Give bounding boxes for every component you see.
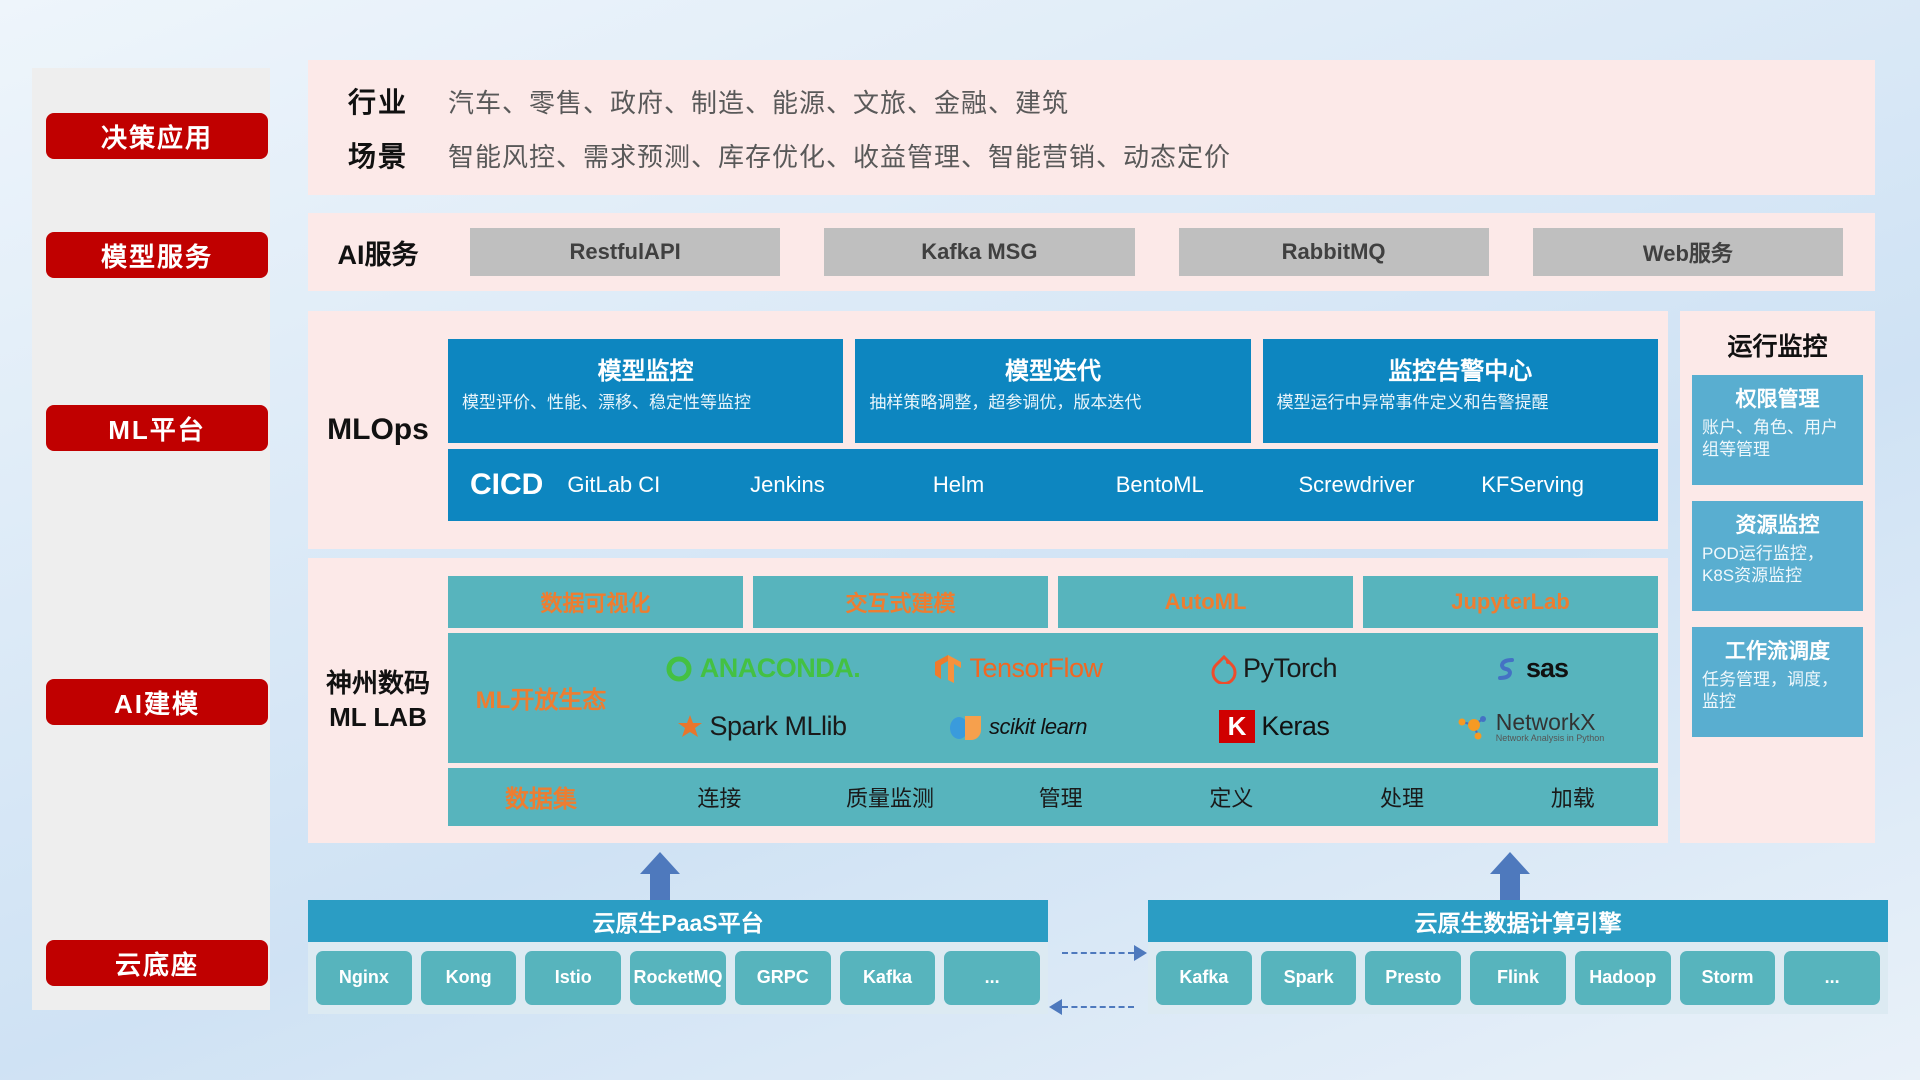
spark-star-icon (677, 714, 703, 740)
data-engine-title: 云原生数据计算引擎 (1148, 900, 1888, 942)
tool-automl[interactable]: AutoML (1058, 576, 1353, 628)
dataset-item-load[interactable]: 加载 (1487, 781, 1658, 813)
spark-mllib-wordmark: Spark MLlib (709, 711, 846, 742)
industry-value: 汽车、零售、政府、制造、能源、文旅、金融、建筑 (448, 83, 1069, 120)
layer-label: ML平台 (108, 410, 206, 447)
tool-jupyterlab[interactable]: JupyterLab (1363, 576, 1658, 628)
ai-service-chip-restfulapi[interactable]: RestfulAPI (470, 228, 780, 276)
layer-label: AI建模 (114, 684, 200, 721)
paas-chip-list: Nginx Kong Istio RocketMQ GRPC Kafka ... (308, 942, 1048, 1014)
networkx-logo: NetworkX Network Analysis in Python (1456, 711, 1605, 743)
mlops-card-list: 模型监控 模型评价、性能、漂移、稳定性等监控 模型迭代 抽样策略调整，超参调优，… (448, 339, 1658, 443)
tool-data-visualization[interactable]: 数据可视化 (448, 576, 743, 628)
cloud-native-data-engine-box: 云原生数据计算引擎 Kafka Spark Presto Flink Hadoo… (1148, 900, 1888, 1014)
engine-chip-presto[interactable]: Presto (1365, 951, 1461, 1005)
sas-wordmark: sas (1526, 653, 1568, 684)
pytorch-flame-icon (1211, 654, 1237, 684)
card-desc: POD运行监控，K8S资源监控 (1702, 543, 1853, 587)
engine-chip-storm[interactable]: Storm (1680, 951, 1776, 1005)
paas-chip-istio[interactable]: Istio (525, 951, 621, 1005)
card-title: 资源监控 (1702, 509, 1853, 539)
monitor-card-workflow[interactable]: 工作流调度 任务管理，调度，监控 (1692, 627, 1863, 737)
card-title: 权限管理 (1702, 383, 1853, 413)
mlops-band: MLOps 模型监控 模型评价、性能、漂移、稳定性等监控 模型迭代 抽样策略调整… (308, 311, 1668, 549)
scikit-learn-logo: scikit learn (949, 712, 1087, 742)
ecosystem-title: ML开放生态 (448, 680, 634, 715)
paas-title: 云原生PaaS平台 (308, 900, 1048, 942)
arrow-up-engine-head-icon (1490, 852, 1530, 874)
mlops-card-model-iteration[interactable]: 模型迭代 抽样策略调整，超参调优，版本迭代 (855, 339, 1250, 443)
layer-pill-ai-modeling[interactable]: AI建模 (46, 679, 268, 725)
dashed-arrow-left-icon (1049, 999, 1062, 1015)
cloud-native-paas-box: 云原生PaaS平台 Nginx Kong Istio RocketMQ GRPC… (308, 900, 1048, 1014)
ai-services-band: AI服务 RestfulAPI Kafka MSG RabbitMQ Web服务 (308, 213, 1875, 291)
engine-chip-kafka[interactable]: Kafka (1156, 951, 1252, 1005)
anaconda-wordmark: ANACONDA. (700, 653, 861, 684)
anaconda-ring-icon (664, 654, 694, 684)
cicd-item-gitlab-ci[interactable]: GitLab CI (561, 474, 744, 496)
mlops-card-model-monitoring[interactable]: 模型监控 模型评价、性能、漂移、稳定性等监控 (448, 339, 843, 443)
mlops-key: MLOps (308, 413, 448, 447)
ai-service-chip-web[interactable]: Web服务 (1533, 228, 1843, 276)
dataset-item-list: 连接 质量监测 管理 定义 处理 加载 (634, 781, 1658, 813)
industry-key: 行业 (308, 81, 448, 121)
dataset-item-manage[interactable]: 管理 (975, 781, 1146, 813)
tensorflow-mark-icon (933, 653, 963, 685)
paas-chip-nginx[interactable]: Nginx (316, 951, 412, 1005)
layer-pill-cloud-base[interactable]: 云底座 (46, 940, 268, 986)
dashed-link-right (1062, 952, 1134, 954)
card-title: 模型监控 (462, 351, 829, 386)
scenario-value: 智能风控、需求预测、库存优化、收益管理、智能营销、动态定价 (448, 137, 1231, 174)
ml-lab-tool-list: 数据可视化 交互式建模 AutoML JupyterLab (448, 576, 1658, 628)
monitor-card-resource[interactable]: 资源监控 POD运行监控，K8S资源监控 (1692, 501, 1863, 611)
runtime-monitoring-band: 运行监控 权限管理 账户、角色、用户组等管理 资源监控 POD运行监控，K8S资… (1680, 311, 1875, 843)
paas-chip-kong[interactable]: Kong (421, 951, 517, 1005)
ml-lab-band: 神州数码 ML LAB 数据可视化 交互式建模 AutoML JupyterLa… (308, 558, 1668, 843)
card-desc: 账户、角色、用户组等管理 (1702, 417, 1853, 461)
ml-lab-key-line2: ML LAB (308, 701, 448, 735)
card-title: 监控告警中心 (1277, 351, 1644, 386)
cicd-item-bentoml[interactable]: BentoML (1110, 474, 1293, 496)
layer-rail (32, 68, 270, 1010)
scikit-learn-wordmark: scikit learn (989, 714, 1087, 740)
sas-logo: sas (1492, 653, 1568, 684)
layer-label: 云底座 (115, 945, 199, 982)
networkx-wordmark: NetworkX (1496, 711, 1605, 734)
cicd-title: CICD (448, 468, 561, 502)
ml-lab-content: 数据可视化 交互式建模 AutoML JupyterLab ML开放生态 ANA… (448, 566, 1668, 836)
keras-logo: K Keras (1219, 710, 1330, 743)
card-desc: 抽样策略调整，超参调优，版本迭代 (869, 392, 1236, 415)
card-desc: 任务管理，调度，监控 (1702, 669, 1853, 713)
dashed-arrow-right-icon (1134, 945, 1147, 961)
mlops-card-alert-center[interactable]: 监控告警中心 模型运行中异常事件定义和告警提醒 (1263, 339, 1658, 443)
cicd-bar: CICD GitLab CI Jenkins Helm BentoML Scre… (448, 449, 1658, 521)
keras-k-icon: K (1219, 710, 1256, 743)
paas-chip-more[interactable]: ... (944, 951, 1040, 1005)
decision-apps-band: 行业 汽车、零售、政府、制造、能源、文旅、金融、建筑 场景 智能风控、需求预测、… (308, 60, 1875, 195)
ai-services-list: RestfulAPI Kafka MSG RabbitMQ Web服务 (448, 228, 1875, 276)
dataset-item-define[interactable]: 定义 (1146, 781, 1317, 813)
cicd-item-helm[interactable]: Helm (927, 474, 1110, 496)
layer-pill-ml-platform[interactable]: ML平台 (46, 405, 268, 451)
cicd-item-jenkins[interactable]: Jenkins (744, 474, 927, 496)
pytorch-wordmark: PyTorch (1243, 653, 1337, 684)
networkx-text-block: NetworkX Network Analysis in Python (1496, 711, 1605, 743)
ai-service-chip-kafka-msg[interactable]: Kafka MSG (824, 228, 1134, 276)
anaconda-logo: ANACONDA. (664, 653, 861, 684)
arrow-up-paas-head-icon (640, 852, 680, 874)
card-title: 模型迭代 (869, 351, 1236, 386)
layer-pill-decision-apps[interactable]: 决策应用 (46, 113, 268, 159)
scikit-learn-blob-icon (949, 712, 983, 742)
tensorflow-wordmark: TensorFlow (969, 653, 1102, 684)
networkx-graph-icon (1456, 712, 1490, 742)
mlops-content: 模型监控 模型评价、性能、漂移、稳定性等监控 模型迭代 抽样策略调整，超参调优，… (448, 329, 1668, 531)
dashed-link-left (1062, 1006, 1134, 1008)
dataset-item-connect[interactable]: 连接 (634, 781, 805, 813)
card-desc: 模型运行中异常事件定义和告警提醒 (1277, 392, 1644, 415)
engine-chip-flink[interactable]: Flink (1470, 951, 1566, 1005)
tensorflow-logo: TensorFlow (933, 653, 1102, 685)
dataset-title: 数据集 (448, 779, 634, 814)
ai-service-chip-rabbitmq[interactable]: RabbitMQ (1179, 228, 1489, 276)
layer-pill-model-service[interactable]: 模型服务 (46, 232, 268, 278)
dataset-bar: 数据集 连接 质量监测 管理 定义 处理 加载 (448, 768, 1658, 826)
engine-chip-more[interactable]: ... (1784, 951, 1880, 1005)
dataset-item-process[interactable]: 处理 (1317, 781, 1488, 813)
monitor-card-permission[interactable]: 权限管理 账户、角色、用户组等管理 (1692, 375, 1863, 485)
layer-label: 决策应用 (101, 118, 213, 155)
cicd-item-kfserving[interactable]: KFServing (1475, 474, 1658, 496)
ecosystem-logo-grid: ANACONDA. TensorFlow (634, 640, 1658, 756)
ml-open-ecosystem: ML开放生态 ANACONDA. Ten (448, 633, 1658, 763)
data-engine-chip-list: Kafka Spark Presto Flink Hadoop Storm ..… (1148, 942, 1888, 1014)
pytorch-logo: PyTorch (1211, 653, 1337, 684)
scenario-row: 场景 智能风控、需求预测、库存优化、收益管理、智能营销、动态定价 (308, 128, 1875, 182)
keras-wordmark: Keras (1261, 711, 1329, 742)
engine-chip-spark[interactable]: Spark (1261, 951, 1357, 1005)
networkx-tagline: Network Analysis in Python (1496, 734, 1605, 743)
card-desc: 模型评价、性能、漂移、稳定性等监控 (462, 392, 829, 415)
paas-chip-grpc[interactable]: GRPC (735, 951, 831, 1005)
runtime-monitoring-title: 运行监控 (1692, 327, 1863, 363)
card-title: 工作流调度 (1702, 635, 1853, 665)
ai-services-key: AI服务 (308, 233, 448, 272)
tool-interactive-modeling[interactable]: 交互式建模 (753, 576, 1048, 628)
spark-mllib-logo: Spark MLlib (677, 711, 846, 742)
ml-lab-key: 神州数码 ML LAB (308, 667, 448, 735)
cicd-item-screwdriver[interactable]: Screwdriver (1292, 474, 1475, 496)
ml-lab-key-line1: 神州数码 (308, 667, 448, 701)
cicd-item-list: GitLab CI Jenkins Helm BentoML Screwdriv… (561, 474, 1658, 496)
engine-chip-hadoop[interactable]: Hadoop (1575, 951, 1671, 1005)
scenario-key: 场景 (308, 135, 448, 175)
industry-row: 行业 汽车、零售、政府、制造、能源、文旅、金融、建筑 (308, 74, 1875, 128)
paas-chip-rocketmq[interactable]: RocketMQ (630, 951, 726, 1005)
architecture-diagram: 决策应用 模型服务 ML平台 AI建模 云底座 行业 汽车、零售、政府、制造、能… (0, 0, 1920, 1080)
dataset-item-quality-monitor[interactable]: 质量监测 (805, 781, 976, 813)
sas-swirl-icon (1492, 655, 1520, 683)
arrow-up-paas-shaft-icon (650, 874, 670, 900)
arrow-up-engine-shaft-icon (1500, 874, 1520, 900)
layer-label: 模型服务 (101, 237, 213, 274)
paas-chip-kafka[interactable]: Kafka (840, 951, 936, 1005)
